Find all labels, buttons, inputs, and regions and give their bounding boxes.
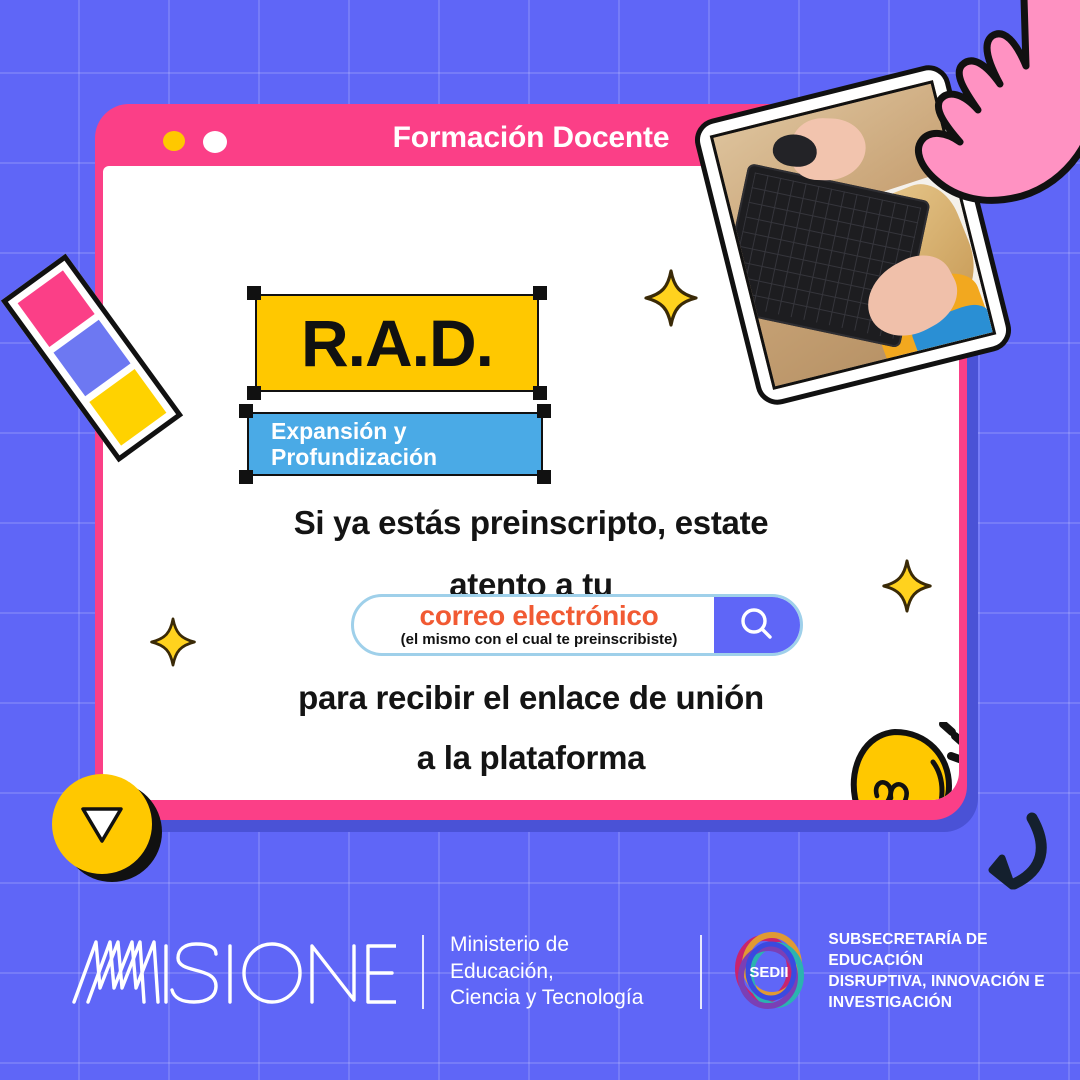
search-value: correo electrónico — [420, 602, 659, 631]
footer: Ministerio de Educación, Ciencia y Tecno… — [0, 922, 1080, 1022]
misiones-logo — [66, 934, 396, 1010]
handle-top-left[interactable] — [247, 286, 261, 300]
handle-top-left[interactable] — [239, 404, 253, 418]
card-title: Formación Docente — [393, 121, 670, 155]
star-right-icon — [881, 558, 933, 614]
handle-top-right[interactable] — [537, 404, 551, 418]
body-line-3: para recibir el enlace de unión — [103, 679, 959, 717]
sedii-rings-icon: SEDII — [728, 929, 814, 1015]
subtitle-text: Expansión y Profundización — [271, 418, 437, 470]
search-bar[interactable]: correo electrónico (el mismo con el cual… — [351, 594, 803, 656]
yellow-dot[interactable] — [163, 131, 185, 151]
curved-arrow-icon — [968, 812, 1058, 902]
white-dot[interactable] — [203, 131, 227, 153]
acronym-selection[interactable]: R.A.D. — [255, 294, 539, 392]
sedii-name: SUBSECRETARÍA DE EDUCACIÓN DISRUPTIVA, I… — [828, 930, 1080, 1013]
ministry-name: Ministerio de Educación, Ciencia y Tecno… — [450, 932, 674, 1011]
sedii-logo: SEDII — [728, 929, 814, 1015]
star-left-icon — [149, 616, 197, 668]
handle-bottom-right[interactable] — [537, 470, 551, 484]
pointing-hand-icon — [836, 0, 1080, 260]
footer-divider-1 — [422, 935, 424, 1009]
handle-top-right[interactable] — [533, 286, 547, 300]
search-icon — [735, 603, 779, 647]
search-input[interactable]: correo electrónico (el mismo con el cual… — [354, 597, 714, 653]
search-button[interactable] — [714, 597, 800, 653]
acronym-box: R.A.D. — [255, 294, 539, 392]
handle-bottom-left[interactable] — [239, 470, 253, 484]
star-top-icon — [643, 268, 699, 328]
handle-bottom-left[interactable] — [247, 386, 261, 400]
search-hint: (el mismo con el cual te preinscribiste) — [401, 632, 678, 648]
sedii-block: SEDII SUBSECRETARÍA DE EDUCACIÓN DISRUPT… — [728, 929, 1080, 1015]
triangle-down-icon — [79, 803, 125, 845]
handle-bottom-right[interactable] — [533, 386, 547, 400]
lightbulb-icon — [821, 722, 959, 800]
footer-divider-2 — [700, 935, 702, 1009]
sedii-abbr: SEDII — [750, 964, 789, 981]
misiones-wordmark-icon — [66, 934, 396, 1010]
body-line-1: Si ya estás preinscripto, estate — [103, 504, 959, 542]
acronym-text: R.A.D. — [301, 310, 493, 376]
subtitle-selection[interactable]: Expansión y Profundización — [247, 412, 543, 476]
subtitle-box: Expansión y Profundización — [247, 412, 543, 476]
play-button[interactable] — [52, 774, 152, 874]
